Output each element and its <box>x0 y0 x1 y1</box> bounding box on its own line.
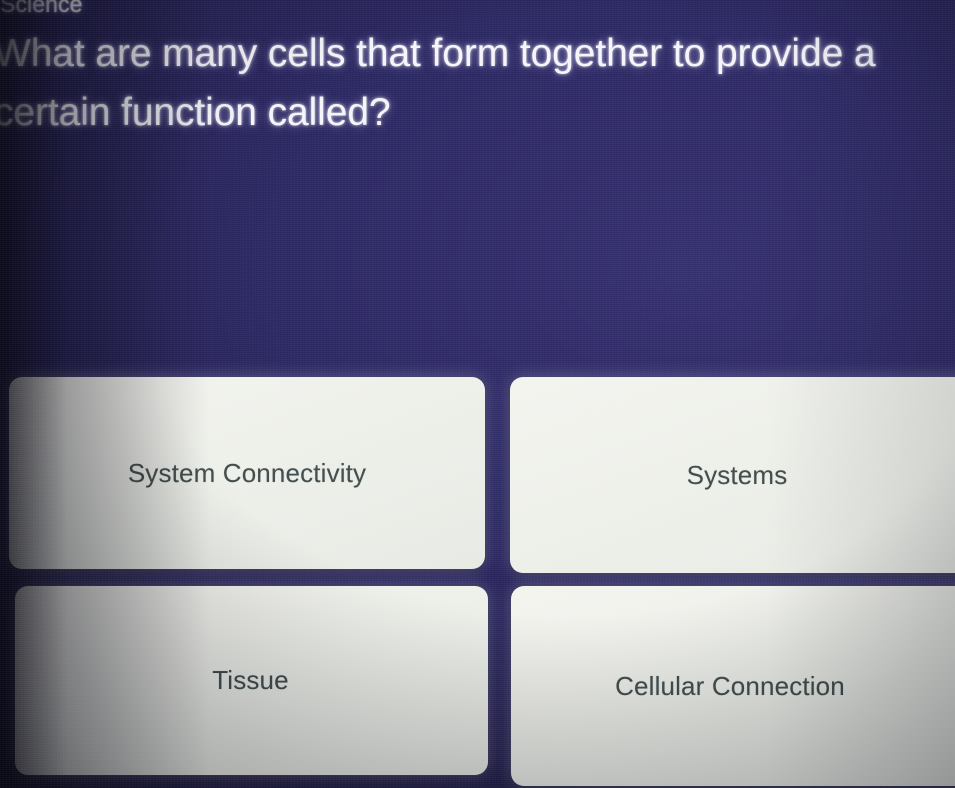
answer-option-systems[interactable]: Systems <box>510 377 955 573</box>
answer-option-system-connectivity[interactable]: System Connectivity <box>9 377 485 569</box>
answer-options-grid: System Connectivity Systems Tissue Cellu… <box>0 0 955 788</box>
quiz-screen: Science What are many cells that form to… <box>0 0 955 788</box>
answer-option-label: System Connectivity <box>128 458 366 489</box>
answer-option-label: Systems <box>687 460 788 491</box>
answer-option-cellular-connection[interactable]: Cellular Connection <box>511 586 955 786</box>
answer-option-tissue[interactable]: Tissue <box>15 586 488 775</box>
answer-option-label: Cellular Connection <box>615 671 845 702</box>
answer-option-label: Tissue <box>212 665 289 696</box>
